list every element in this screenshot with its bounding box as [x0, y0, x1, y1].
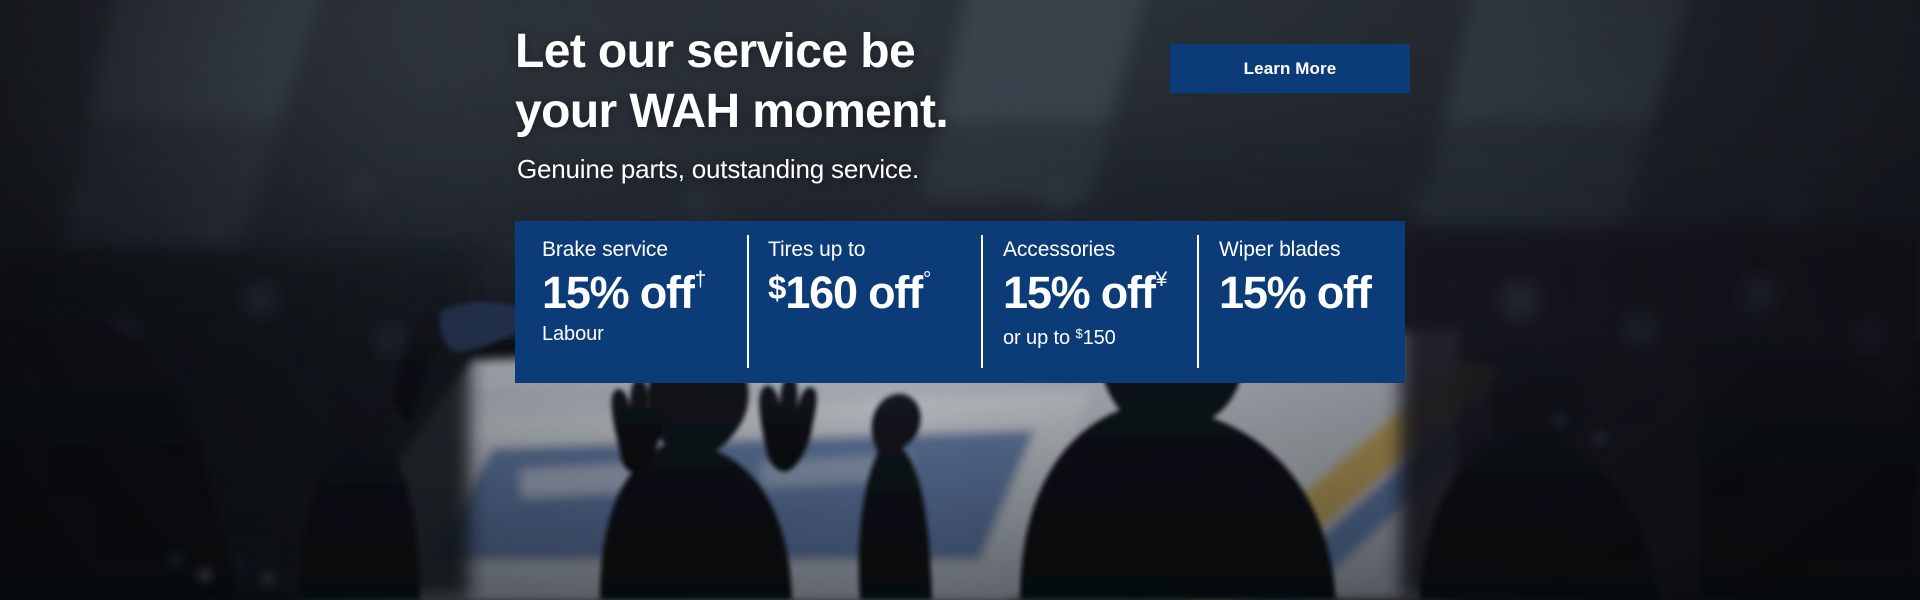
offers-panel: Brake service 15% off † Labour Tires up … — [515, 221, 1405, 383]
hero-headline: Let our service be your WAH moment. — [515, 22, 1155, 142]
promo-hero-banner: Let our service be your WAH moment. Genu… — [0, 0, 1920, 600]
offer-label: Accessories — [1003, 237, 1197, 263]
offer-value-text: 15% off — [542, 265, 694, 320]
offer-card-tires[interactable]: Tires up to $ 160 off ° — [747, 221, 981, 383]
offer-value-text: 15% off — [1003, 265, 1155, 320]
hero-subheadline: Genuine parts, outstanding service. — [517, 154, 919, 185]
offer-note-prefix: or up to — [1003, 327, 1075, 349]
offer-note: Labour — [542, 322, 747, 346]
learn-more-button[interactable]: Learn More — [1170, 44, 1410, 93]
offer-card-accessories[interactable]: Accessories 15% off ¥ or up to $150 — [981, 221, 1197, 383]
offer-value: 15% off — [1219, 265, 1405, 320]
offer-label: Tires up to — [768, 237, 981, 263]
headline-line-2: your WAH moment. — [515, 82, 1155, 142]
offer-value-prefix: $ — [768, 268, 785, 308]
offer-label: Wiper blades — [1219, 237, 1405, 263]
offer-footnote-marker: † — [695, 269, 705, 290]
offer-card-wiper-blades[interactable]: Wiper blades 15% off — [1197, 221, 1405, 383]
offer-note-text: 150 — [1083, 327, 1116, 349]
offer-note-text: Labour — [542, 323, 604, 345]
offer-value-text: 15% off — [1219, 265, 1371, 320]
offer-value: 15% off † — [542, 265, 747, 320]
offer-value: 15% off ¥ — [1003, 265, 1197, 320]
offer-footnote-marker: ° — [923, 269, 930, 290]
headline-line-1: Let our service be — [515, 22, 1155, 82]
offer-note: or up to $150 — [1003, 322, 1197, 350]
offer-note-currency: $ — [1075, 326, 1082, 341]
offer-label: Brake service — [542, 237, 747, 263]
hero-content: Let our service be your WAH moment. Genu… — [0, 0, 1920, 600]
offer-value-text: 160 off — [785, 265, 922, 320]
offer-footnote-marker: ¥ — [1156, 269, 1166, 290]
offer-value: $ 160 off ° — [768, 265, 981, 320]
offer-card-brake-service[interactable]: Brake service 15% off † Labour — [515, 221, 747, 383]
